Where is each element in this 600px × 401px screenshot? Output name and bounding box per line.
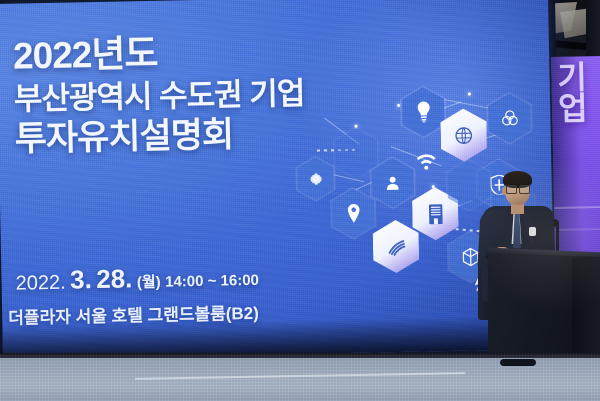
screen-vignette [0,0,555,360]
floor-cable [500,359,536,366]
stage-floor [0,353,600,401]
glasses-lens-right [519,185,530,194]
speaker-glasses [506,185,529,192]
speaker-badge [529,227,536,236]
podium-side [572,257,600,367]
glasses-lens-left [506,185,517,194]
stage-scene: 기업 [0,0,600,401]
main-led-screen: 2022년도 부산광역시 수도권 기업 투자유치설명회 2022. 3. 28.… [0,0,555,360]
